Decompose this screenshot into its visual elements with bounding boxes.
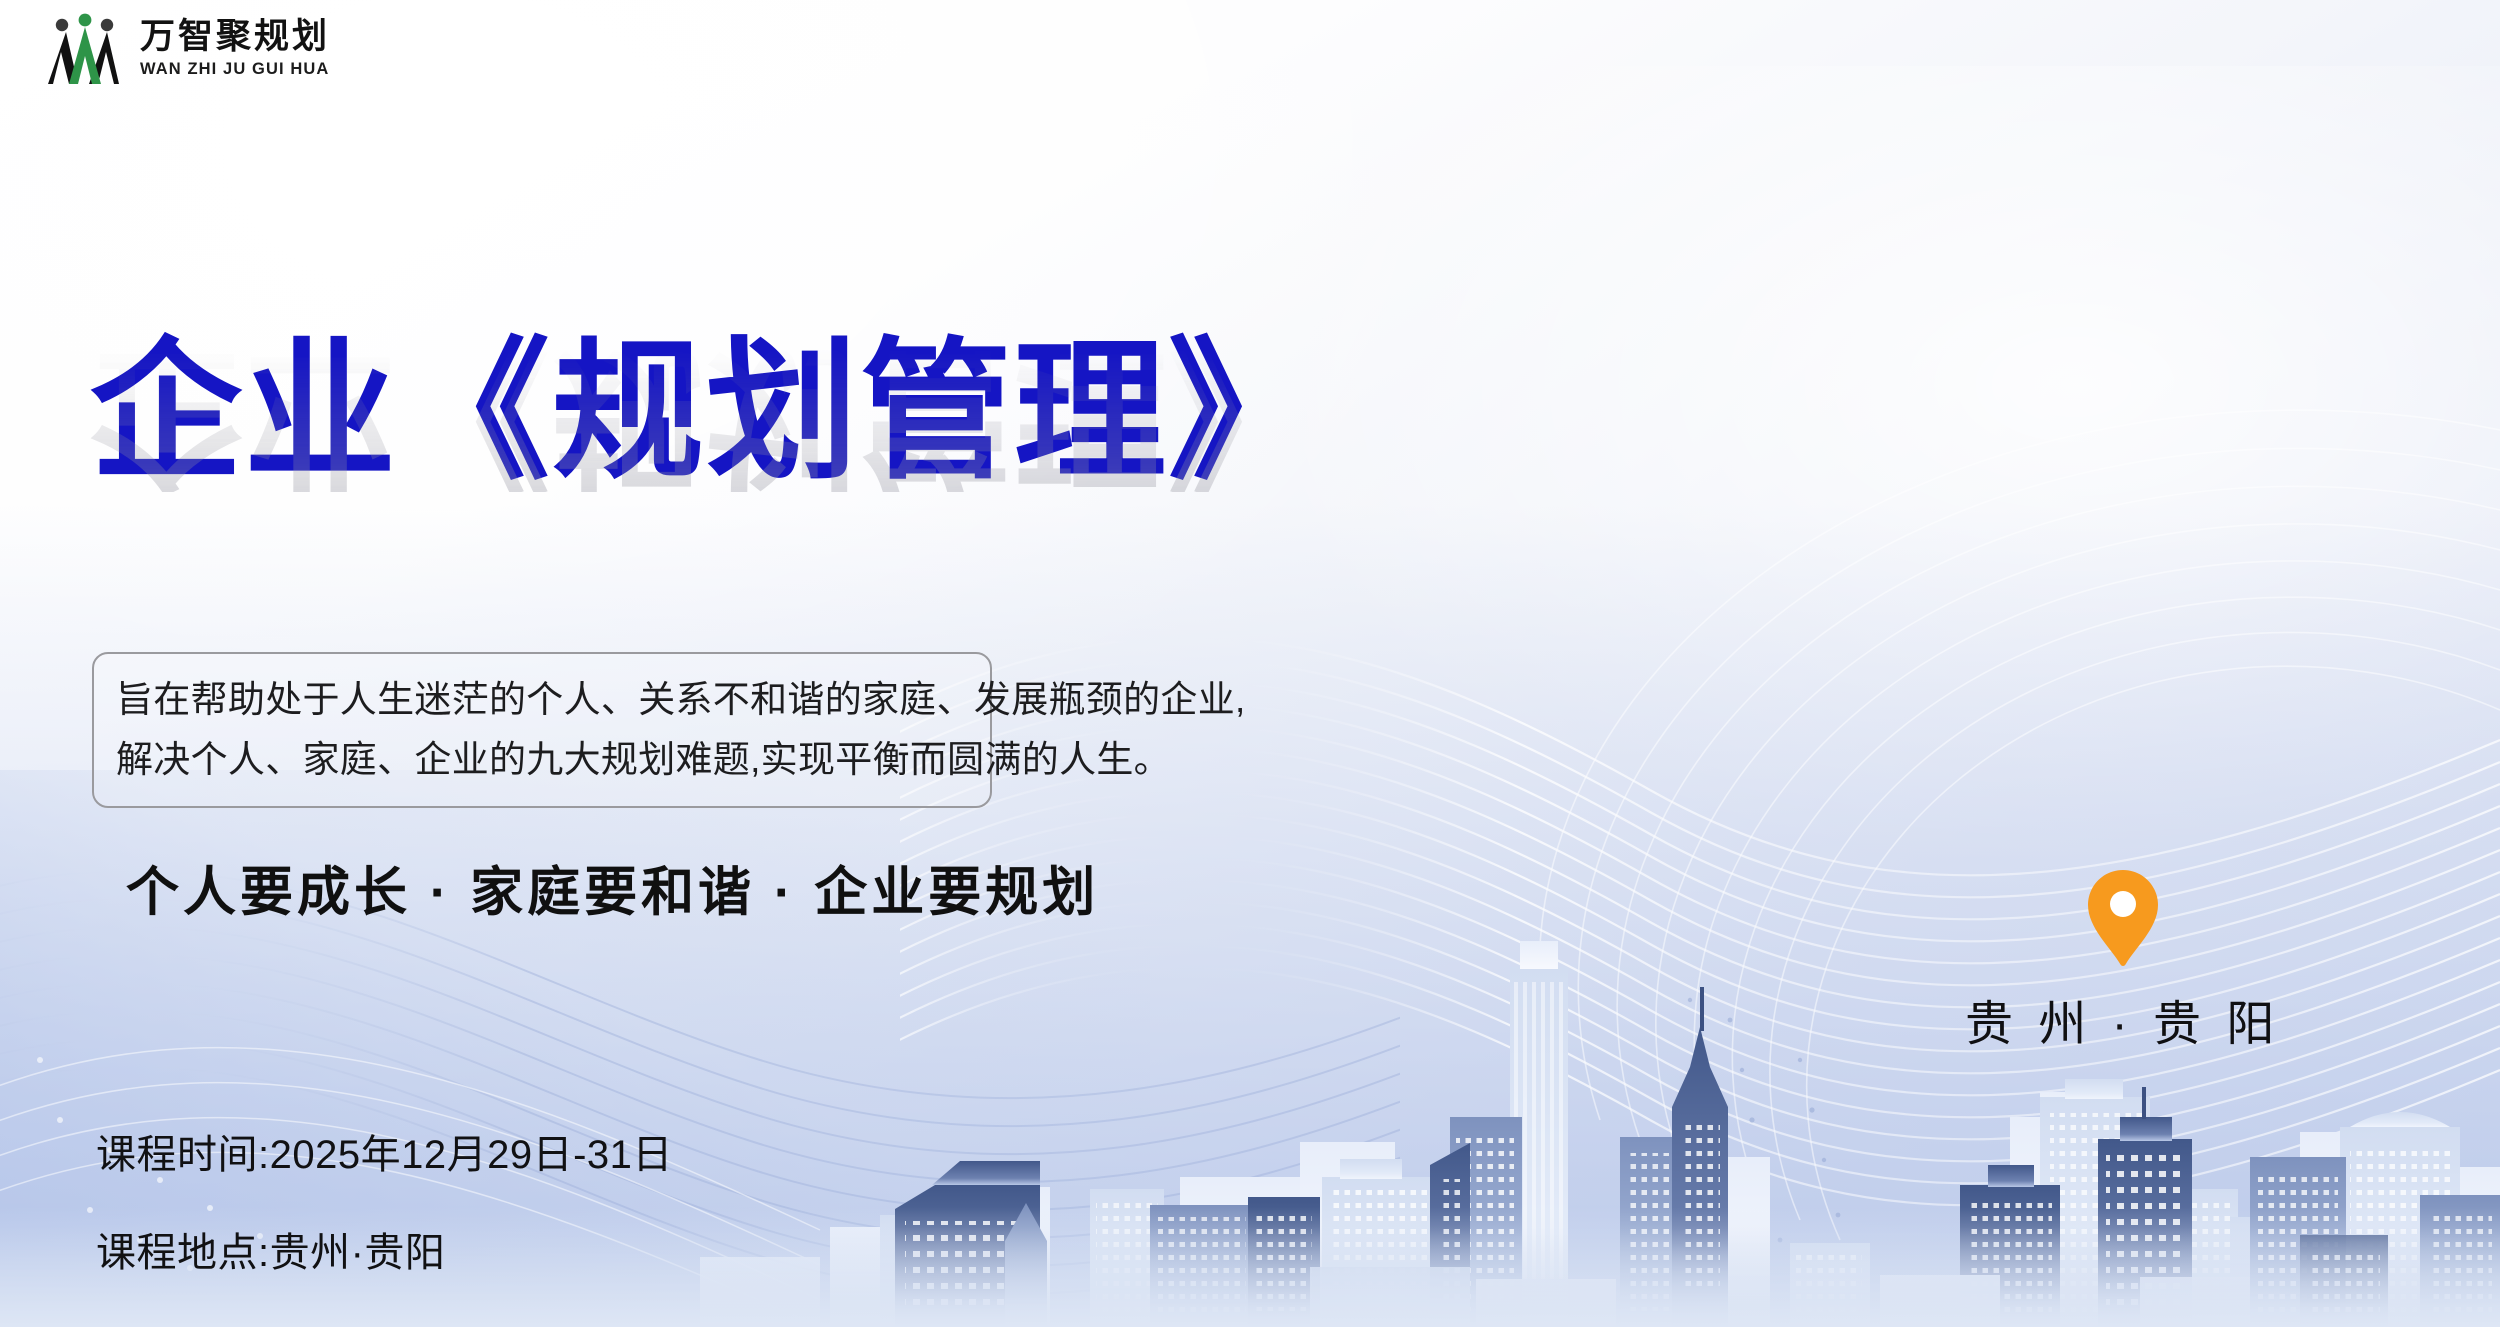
hero-title-group: 企业《规划管理》 企业《规划管理》: [90, 336, 1490, 644]
poster-canvas: 万智聚规划 WAN ZHI JU GUI HUA 企业《规划管理》 企业《规划管…: [0, 0, 2500, 1327]
brand-name-cn: 万智聚规划: [140, 19, 330, 54]
page-title-reflection: 企业《规划管理》: [90, 340, 1490, 492]
description-line-1: 旨在帮助处于人生迷茫的个人、关系不和谐的家庭、发展瓶颈的企业,: [116, 670, 970, 730]
brand-logo-text: 万智聚规划 WAN ZHI JU GUI HUA: [140, 19, 330, 78]
slogan-text: 个人要成长 · 家庭要和谐 · 企业要规划: [126, 850, 1099, 926]
course-info-block: 课程时间:2025年12月29日-31日 课程地点:贵州·贵阳: [96, 1122, 673, 1278]
map-pin-icon: [2085, 868, 2161, 968]
location-block: 贵 州 · 贵 阳: [1965, 868, 2280, 1054]
course-time: 课程时间:2025年12月29日-31日: [96, 1122, 673, 1180]
location-city-label: 贵 州 · 贵 阳: [1965, 984, 2280, 1054]
brand-name-en: WAN ZHI JU GUI HUA: [140, 61, 330, 78]
description-line-2: 解决个人、家庭、企业的九大规划难题,实现平衡而圆满的人生。: [116, 730, 970, 790]
description-box: 旨在帮助处于人生迷茫的个人、关系不和谐的家庭、发展瓶颈的企业, 解决个人、家庭、…: [92, 652, 992, 808]
course-place: 课程地点:贵州·贵阳: [96, 1220, 673, 1278]
three-people-m-logo-icon: [46, 12, 124, 84]
brand-logo[interactable]: 万智聚规划 WAN ZHI JU GUI HUA: [46, 12, 330, 84]
